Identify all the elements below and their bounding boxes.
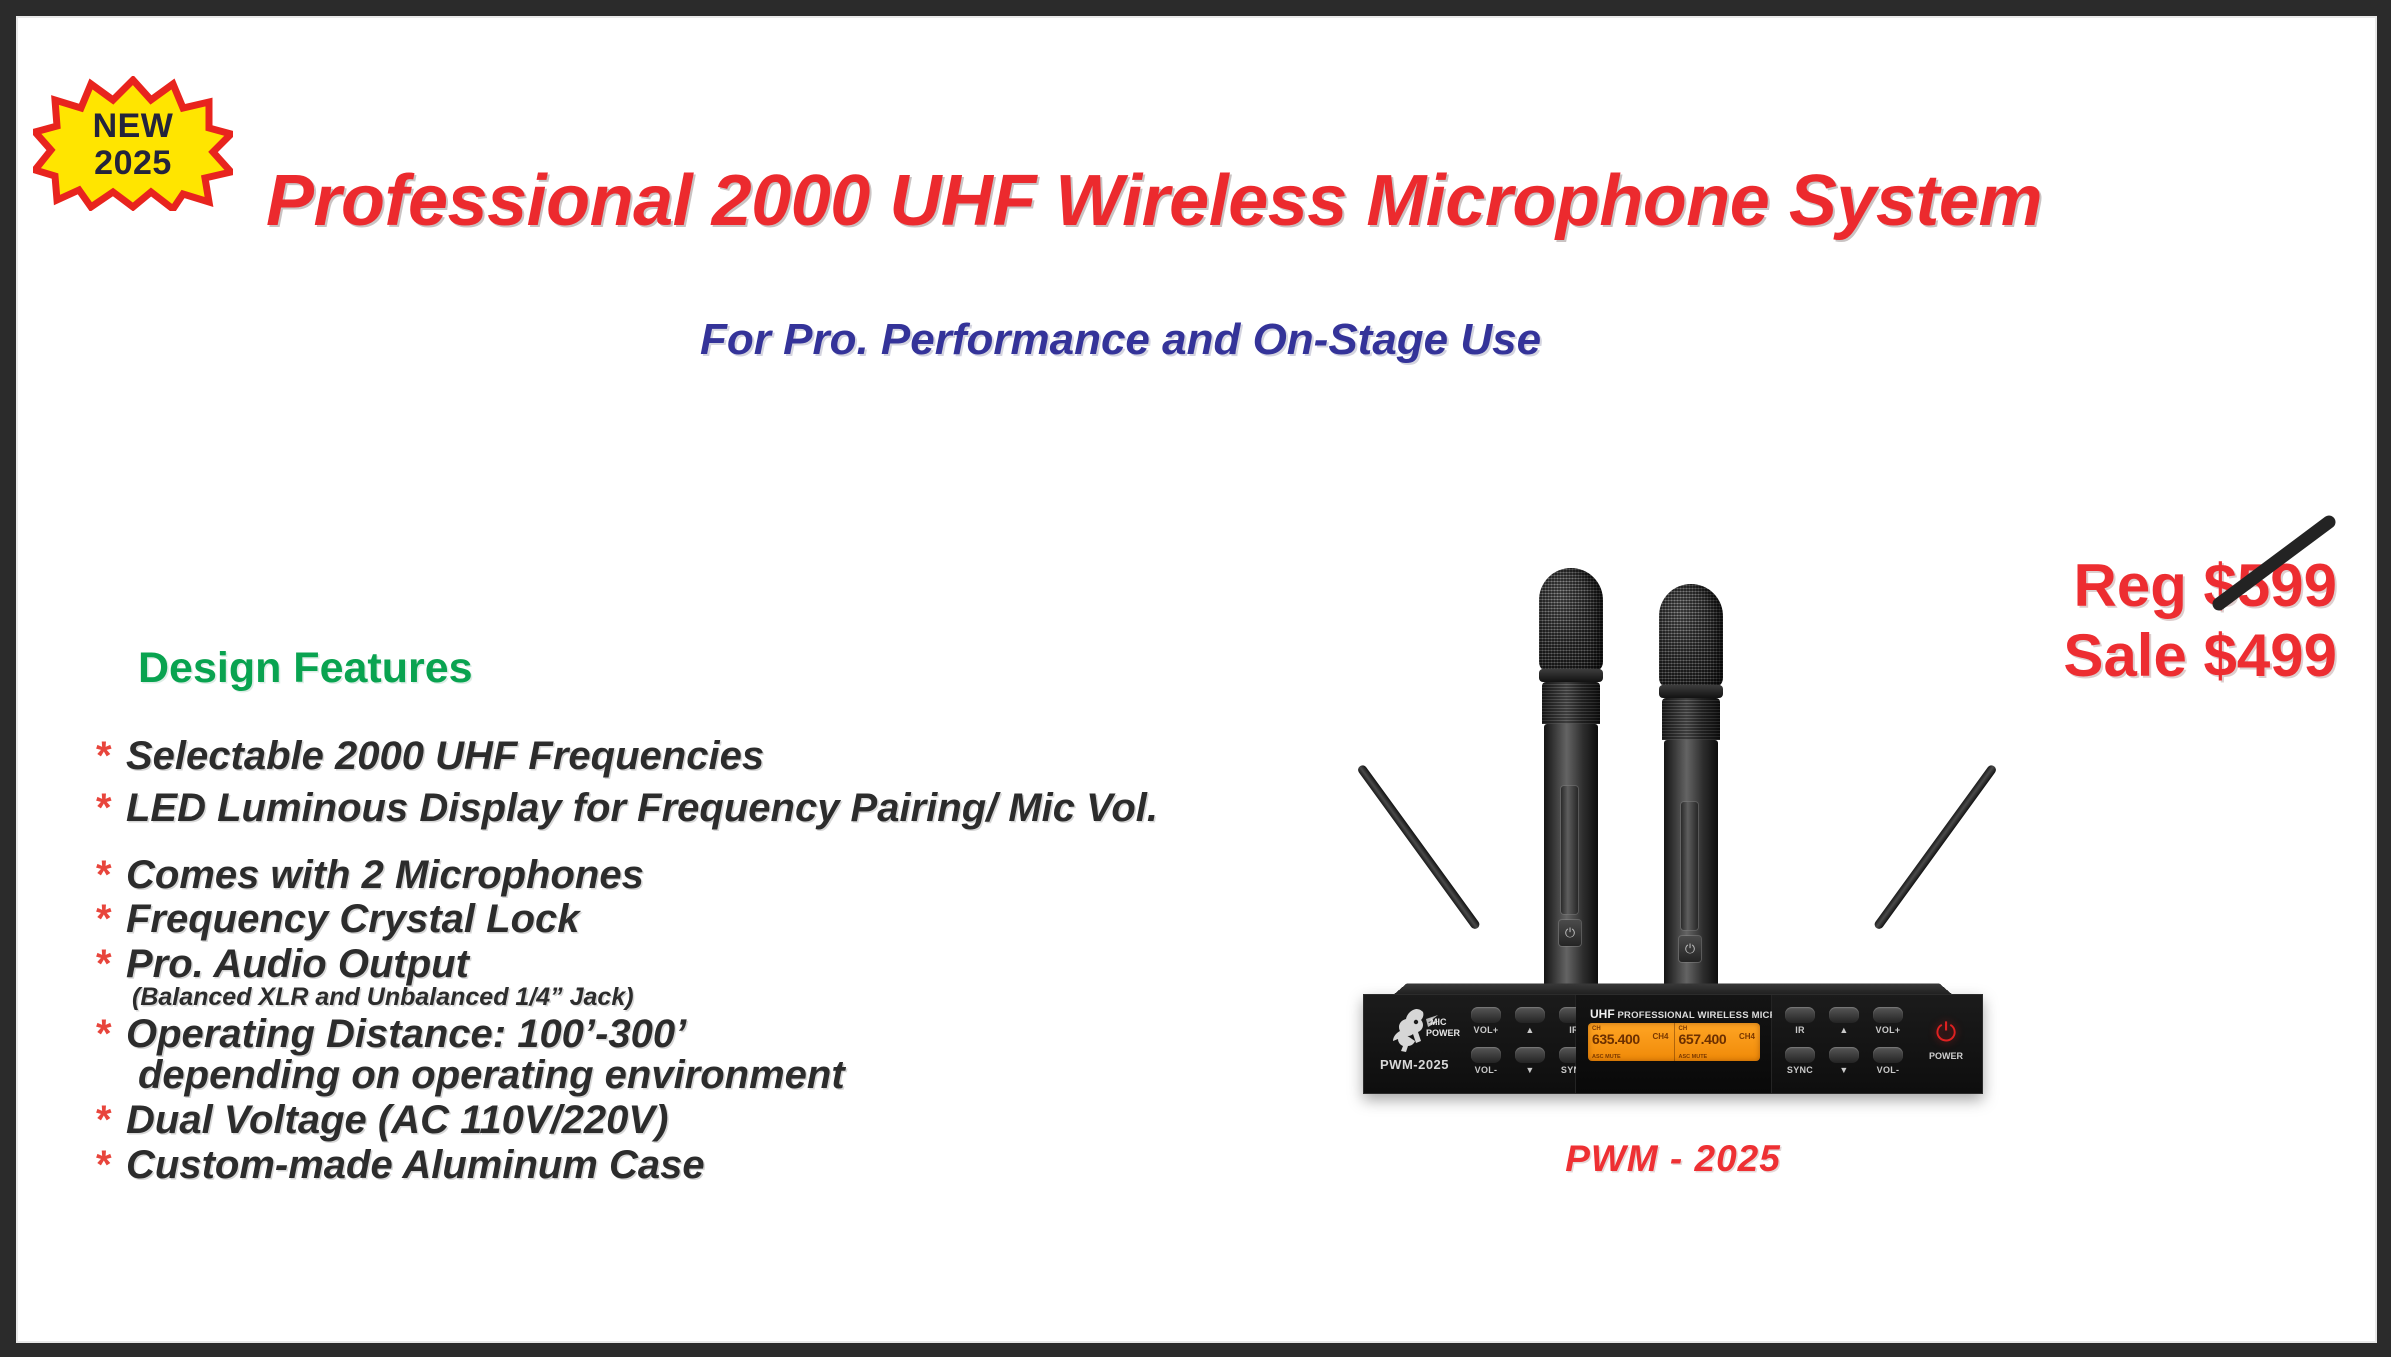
mic-collar: [1659, 685, 1723, 698]
power-button[interactable]: ⏻ POWER: [1926, 1019, 1966, 1061]
features-list: * Selectable 2000 UHF Frequencies * LED …: [96, 736, 1346, 1186]
badge-line-new: NEW: [33, 107, 233, 146]
mic-power-button-icon: [1559, 920, 1581, 946]
button-sync-right[interactable]: SYNC: [1782, 1047, 1818, 1085]
button-label: SYNC: [1782, 1065, 1818, 1075]
flyer-page: NEW 2025 Professional 2000 UHF Wireless …: [16, 16, 2377, 1343]
list-item-label: Frequency Crystal Lock: [126, 899, 580, 940]
sale-price: Sale $499: [2063, 626, 2337, 686]
receiver-brand-uhf: UHF: [1590, 1007, 1615, 1021]
antenna-right: [1873, 764, 1998, 931]
bullet-marker: *: [96, 736, 126, 776]
badge-line-year: 2025: [33, 144, 233, 183]
antenna-left: [1356, 764, 1481, 931]
regular-price: Reg $599: [2063, 556, 2337, 616]
spacer: [96, 829, 1346, 855]
button-cap: [1873, 1007, 1903, 1023]
button-down-left[interactable]: ▼: [1512, 1047, 1548, 1085]
button-cap: [1785, 1047, 1815, 1063]
button-label: ▲: [1826, 1025, 1862, 1035]
button-vol-down-left[interactable]: VOL-: [1468, 1047, 1504, 1085]
power-label: POWER: [1926, 1051, 1966, 1061]
button-label: IR: [1782, 1025, 1818, 1035]
button-cap: [1471, 1047, 1501, 1063]
button-cap: [1873, 1047, 1903, 1063]
list-item-label: Pro. Audio Output: [126, 944, 469, 985]
button-label: VOL+: [1468, 1025, 1504, 1035]
list-item-label: Custom-made Aluminum Case: [126, 1145, 705, 1186]
button-vol-up-right[interactable]: VOL+: [1870, 1007, 1906, 1045]
list-item-continuation: depending on operating environment: [138, 1055, 1346, 1096]
button-label: VOL-: [1468, 1065, 1504, 1075]
svg-text:POWER: POWER: [1426, 1028, 1460, 1038]
list-item-label: Selectable 2000 UHF Frequencies: [126, 736, 764, 777]
mic-grille-icon: [1659, 584, 1723, 688]
receiver-right-panel: IR ▲ VOL+ SYNC: [1772, 995, 1982, 1093]
pricing-block: Reg $599 Sale $499: [2063, 556, 2337, 686]
receiver-unit: MIC POWER PWM-2025 VOL+ ▲: [1363, 968, 1983, 1108]
bullet-marker: *: [96, 899, 126, 939]
mic-neck: [1662, 698, 1720, 740]
bullet-marker: *: [96, 944, 126, 984]
mic-display-window: [1561, 786, 1578, 914]
receiver-front-panel: MIC POWER PWM-2025 VOL+ ▲: [1363, 994, 1983, 1094]
svg-text:MIC: MIC: [1430, 1017, 1447, 1027]
button-label: ▲: [1512, 1025, 1548, 1035]
bullet-marker: *: [96, 1014, 126, 1054]
lcd-channel-b: CH 657.400 CH4 ASC MUTE: [1674, 1023, 1761, 1061]
receiver-left-panel: MIC POWER PWM-2025 VOL+ ▲: [1364, 995, 1576, 1093]
regular-price-label: Reg $599: [2074, 552, 2338, 619]
list-item: * LED Luminous Display for Frequency Pai…: [96, 788, 1346, 829]
list-item: * Selectable 2000 UHF Frequencies: [96, 736, 1346, 777]
button-cap: [1471, 1007, 1501, 1023]
bullet-marker: *: [96, 788, 126, 828]
button-up-left[interactable]: ▲: [1512, 1007, 1548, 1045]
product-image: MIC POWER PWM-2025 VOL+ ▲: [1363, 558, 1983, 1218]
lcd-channel-a: CH 635.400 CH4 ASC MUTE: [1588, 1023, 1674, 1061]
list-item-sublabel: (Balanced XLR and Unbalanced 1/4” Jack): [132, 985, 634, 1011]
button-cap: [1785, 1007, 1815, 1023]
button-down-right[interactable]: ▼: [1826, 1047, 1862, 1085]
mic-power-button-icon: [1679, 936, 1701, 962]
bullet-marker: *: [96, 855, 126, 895]
list-item-label: Comes with 2 Microphones: [126, 855, 644, 896]
lcd-status: ASC MUTE: [1592, 1054, 1621, 1060]
list-item-label: depending on operating environment: [138, 1055, 845, 1096]
mic-neck: [1542, 682, 1600, 724]
flyer-frame: NEW 2025 Professional 2000 UHF Wireless …: [0, 0, 2391, 1357]
receiver-lcd-display: CH 635.400 CH4 ASC MUTE CH 657.400 CH4 A…: [1588, 1023, 1760, 1061]
features-heading: Design Features: [138, 644, 473, 693]
button-cap: [1829, 1007, 1859, 1023]
list-item: * Dual Voltage (AC 110V/220V): [96, 1100, 1346, 1141]
button-label: VOL-: [1870, 1065, 1906, 1075]
button-cap: [1829, 1047, 1859, 1063]
list-item: * Comes with 2 Microphones: [96, 855, 1346, 896]
power-icon: ⏻: [1926, 1019, 1966, 1045]
list-item-label: Operating Distance: 100’-300’: [126, 1014, 686, 1055]
list-item-label: Dual Voltage (AC 110V/220V): [126, 1100, 668, 1141]
button-vol-down-right[interactable]: VOL-: [1870, 1047, 1906, 1085]
button-ir-right[interactable]: IR: [1782, 1007, 1818, 1045]
list-item: * Frequency Crystal Lock: [96, 899, 1346, 940]
receiver-model-label: PWM-2025: [1380, 1057, 1449, 1072]
list-item: * Operating Distance: 100’-300’: [96, 1014, 1346, 1055]
lcd-level: CH4: [1652, 1032, 1668, 1041]
product-caption: PWM - 2025: [1363, 1138, 1983, 1180]
button-label: VOL+: [1870, 1025, 1906, 1035]
button-label: ▼: [1512, 1065, 1548, 1075]
mic-display-window: [1681, 802, 1698, 930]
lcd-level: CH4: [1739, 1032, 1755, 1041]
page-title: Professional 2000 UHF Wireless Microphon…: [266, 160, 2042, 242]
button-up-right[interactable]: ▲: [1826, 1007, 1862, 1045]
list-item-label: LED Luminous Display for Frequency Pairi…: [126, 788, 1158, 829]
page-subtitle: For Pro. Performance and On-Stage Use: [700, 315, 1541, 365]
mic-grille-icon: [1539, 568, 1603, 672]
list-item-subnote: (Balanced XLR and Unbalanced 1/4” Jack): [132, 985, 1346, 1011]
receiver-right-button-grid: IR ▲ VOL+ SYNC: [1782, 1007, 1906, 1085]
button-cap: [1515, 1047, 1545, 1063]
lcd-status: ASC MUTE: [1679, 1054, 1708, 1060]
button-vol-up-left[interactable]: VOL+: [1468, 1007, 1504, 1045]
mic-collar: [1539, 669, 1603, 682]
receiver-center-panel: UHF PROFESSIONAL WIRELESS MICROPHONE CH …: [1576, 995, 1772, 1093]
list-item: * Pro. Audio Output: [96, 944, 1346, 985]
receiver-left-button-grid: VOL+ ▲ IR VOL-: [1468, 1007, 1592, 1085]
new-2025-badge: NEW 2025: [33, 76, 233, 211]
bullet-marker: *: [96, 1100, 126, 1140]
list-item: * Custom-made Aluminum Case: [96, 1145, 1346, 1186]
rooster-logo-icon: MIC POWER: [1386, 1005, 1460, 1053]
button-label: ▼: [1826, 1065, 1862, 1075]
button-cap: [1515, 1007, 1545, 1023]
bullet-marker: *: [96, 1145, 126, 1185]
